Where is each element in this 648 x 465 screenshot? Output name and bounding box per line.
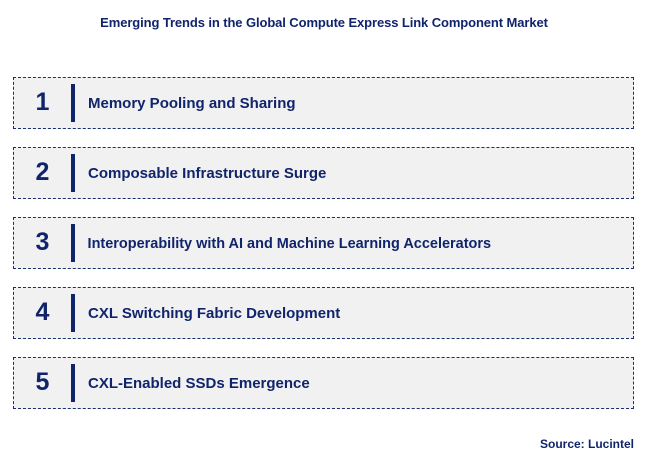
list-item[interactable]: 1 Memory Pooling and Sharing [13, 77, 634, 129]
list-item[interactable]: 2 Composable Infrastructure Surge [13, 147, 634, 199]
list-item[interactable]: 4 CXL Switching Fabric Development [13, 287, 634, 339]
page-title: Emerging Trends in the Global Compute Ex… [0, 15, 648, 30]
list-item[interactable]: 5 CXL-Enabled SSDs Emergence [13, 357, 634, 409]
source-attribution: Source: Lucintel [540, 437, 634, 451]
trend-label: CXL Switching Fabric Development [75, 305, 633, 322]
trend-number: 2 [14, 160, 71, 187]
list-item[interactable]: 3 Interoperability with AI and Machine L… [13, 217, 634, 269]
trend-label: Interoperability with AI and Machine Lea… [75, 235, 613, 252]
infographic-canvas: Emerging Trends in the Global Compute Ex… [0, 0, 648, 465]
trend-number: 4 [14, 300, 71, 327]
trend-number: 3 [14, 230, 71, 257]
trend-label: Composable Infrastructure Surge [75, 165, 633, 182]
trend-list: 1 Memory Pooling and Sharing 2 Composabl… [13, 77, 634, 409]
trend-label: CXL-Enabled SSDs Emergence [75, 375, 633, 392]
trend-number: 1 [14, 90, 71, 117]
trend-number: 5 [14, 370, 71, 397]
trend-label: Memory Pooling and Sharing [75, 95, 633, 112]
